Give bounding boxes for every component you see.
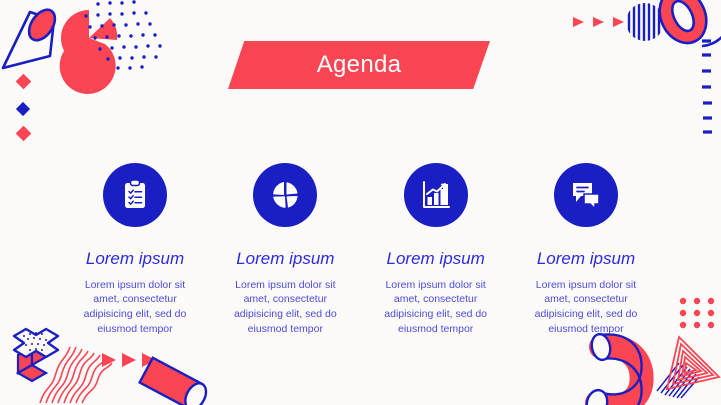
bar-chart-growth-icon-circle[interactable] — [404, 163, 468, 227]
red-curved-tube-shape — [584, 332, 641, 405]
pie-chart-icon-circle[interactable] — [253, 163, 317, 227]
chat-bubbles-icon — [569, 178, 603, 212]
agenda-item-heading: Lorem ipsum — [387, 249, 485, 269]
red-diamond — [16, 74, 32, 90]
megaphone-cone-shape — [3, 5, 60, 68]
title-banner: Agenda — [228, 41, 490, 89]
agenda-item-heading: Lorem ipsum — [236, 249, 334, 269]
blue-dot-grid — [84, 0, 161, 69]
red-dot-grid — [680, 298, 714, 328]
agenda-item-heading: Lorem ipsum — [86, 249, 184, 269]
red-triangle-small — [573, 17, 624, 27]
red-wave-lines — [40, 347, 112, 403]
blue-diamond — [16, 102, 30, 116]
blue-dash-column — [702, 41, 712, 132]
agenda-item-body: Lorem ipsum dolor sit amet, consectetur … — [72, 278, 198, 338]
chat-bubbles-icon-circle[interactable] — [554, 163, 618, 227]
red-diamond-lower — [16, 126, 32, 142]
nested-red-triangles — [667, 337, 719, 389]
bar-chart-growth-icon — [419, 178, 453, 212]
agenda-item-3[interactable]: Lorem ipsum Lorem ipsum dolor sit amet, … — [361, 163, 511, 337]
slide-canvas: Agenda Lorem ipsum — [0, 0, 721, 405]
agenda-item-2[interactable]: Lorem ipsum Lorem ipsum dolor sit amet, … — [210, 163, 360, 337]
red-cylinder-shape — [140, 358, 210, 405]
blue-striped-circle — [629, 2, 659, 44]
pie-chart-icon — [268, 178, 302, 212]
red-blue-torus-ring — [651, 0, 715, 51]
isometric-cross-shape — [14, 329, 58, 381]
agenda-item-body: Lorem ipsum dolor sit amet, consectetur … — [523, 278, 649, 338]
top-right-decoration-group — [561, 0, 721, 148]
agenda-item-heading: Lorem ipsum — [537, 249, 635, 269]
red-triangle-row — [102, 353, 156, 367]
clipboard-checklist-icon — [118, 178, 152, 212]
red-pacman-circle-shape — [60, 18, 118, 94]
blue-arc — [679, 0, 721, 46]
page-title: Agenda — [317, 53, 402, 77]
agenda-item-4[interactable]: Lorem ipsum Lorem ipsum dolor sit amet, … — [511, 163, 661, 337]
clipboard-checklist-icon-circle[interactable] — [103, 163, 167, 227]
blue-hatch-lines — [657, 363, 699, 398]
agenda-item-1[interactable]: Lorem ipsum Lorem ipsum dolor sit amet, … — [60, 163, 210, 337]
agenda-columns: Lorem ipsum Lorem ipsum dolor sit amet, … — [60, 163, 661, 337]
agenda-item-body: Lorem ipsum dolor sit amet, consectetur … — [373, 278, 499, 338]
top-left-decoration-group — [0, 0, 175, 150]
agenda-item-body: Lorem ipsum dolor sit amet, consectetur … — [222, 278, 348, 338]
